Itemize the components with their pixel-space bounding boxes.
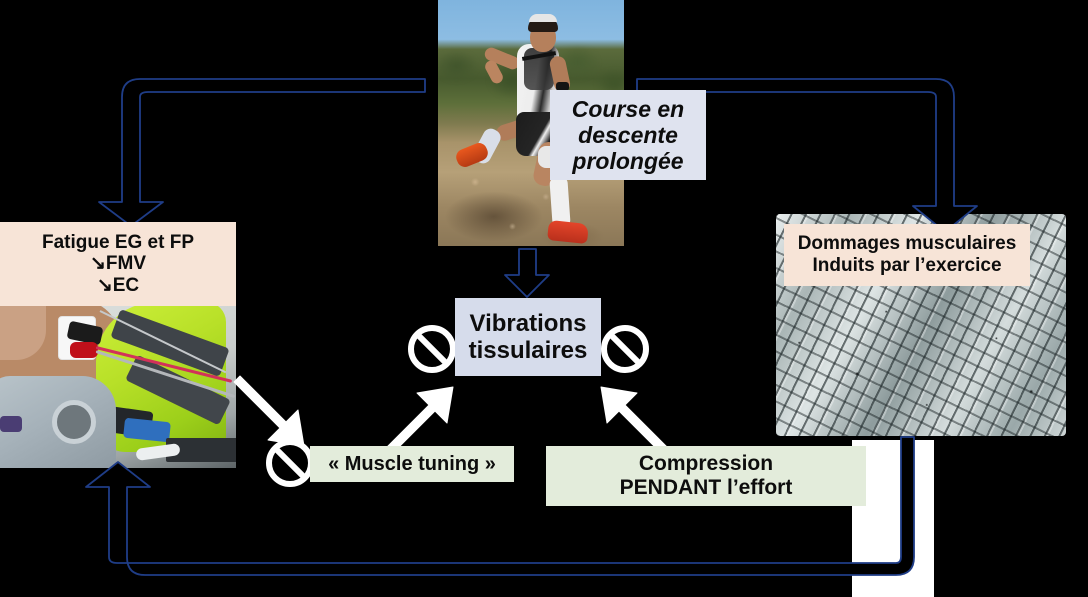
photo-leg-electrode <box>0 300 236 468</box>
purple-object <box>0 416 22 432</box>
box-fatigue-line-1: Fatigue EG et FP <box>42 232 194 254</box>
box-muscle-tuning[interactable]: « Muscle tuning » <box>310 446 514 482</box>
box-fatigue[interactable]: Fatigue EG et FP ↘FMV ↘EC <box>0 222 236 306</box>
dynamometer-ring <box>52 400 96 444</box>
box-compression-line-1: Compression <box>639 452 773 476</box>
box-vibrations-tissulaires[interactable]: Vibrations tissulaires <box>455 298 601 376</box>
box-vibrations-line-1: Vibrations <box>470 310 587 337</box>
arrow-fatigue-to-tuning <box>234 376 304 446</box>
box-compression-pendant-effort[interactable]: Compression PENDANT l’effort <box>546 446 866 506</box>
diagram-canvas: Course en descente prolongée Fatigue EG … <box>0 0 1088 597</box>
runner-headband <box>529 14 557 22</box>
box-course-line-1: Course en <box>572 96 684 122</box>
box-tuning-line-1: « Muscle tuning » <box>328 453 496 476</box>
box-vibrations-line-2: tissulaires <box>469 337 588 364</box>
box-course-line-3: prolongée <box>572 148 683 174</box>
box-dommages-line-1: Dommages musculaires <box>798 233 1017 255</box>
box-compression-line-2: PENDANT l’effort <box>620 476 793 500</box>
no-compression-vibrations-icon <box>604 328 646 370</box>
no-tuning-vibrations-icon <box>411 328 453 370</box>
box-course-line-2: descente <box>578 122 678 148</box>
electrode-red-marker <box>70 342 98 358</box>
runner-shoe-front <box>547 220 589 244</box>
no-fatigue-tuning-icon <box>269 442 311 484</box>
box-dommages-musculaires[interactable]: Dommages musculaires Induits par l’exerc… <box>784 224 1030 286</box>
box-fatigue-line-3: ↘EC <box>97 275 139 297</box>
arrow-course-to-fatigue <box>99 79 425 226</box>
box-dommages-line-2: Induits par l’exercice <box>812 255 1001 277</box>
runner-shoe-back <box>454 141 490 170</box>
arrow-course-to-vibrations <box>505 249 549 297</box>
box-fatigue-line-2: ↘FMV <box>90 253 146 275</box>
box-course-en-descente[interactable]: Course en descente prolongée <box>550 90 706 180</box>
